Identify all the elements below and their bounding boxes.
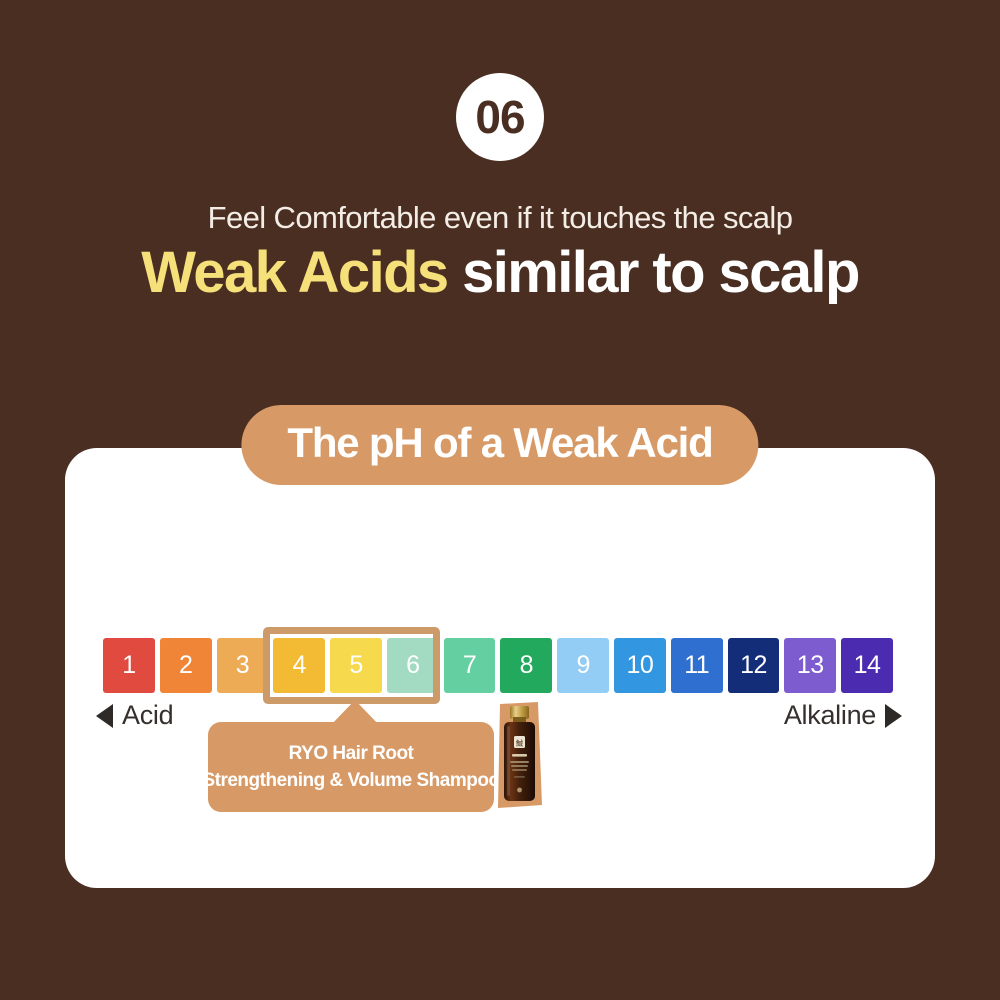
subtitle-text: Feel Comfortable even if it touches the … <box>0 200 1000 236</box>
ph-block-9: 9 <box>557 638 609 693</box>
callout-line-1: RYO Hair Root <box>289 743 414 765</box>
ph-block-1: 1 <box>103 638 155 693</box>
acid-axis-label: Acid <box>96 700 173 731</box>
acid-label-text: Acid <box>122 700 173 731</box>
product-bottle-image: 鯎 <box>490 700 548 812</box>
ph-block-3: 3 <box>217 638 269 693</box>
page-title: Weak Acids similar to scalp <box>0 239 1000 306</box>
section-number-badge: 06 <box>456 73 544 161</box>
ph-block-10: 10 <box>614 638 666 693</box>
ph-block-4: 4 <box>273 638 325 693</box>
ph-block-12: 12 <box>728 638 780 693</box>
ph-block-11: 11 <box>671 638 723 693</box>
ph-block-13: 13 <box>784 638 836 693</box>
alkaline-label-text: Alkaline <box>784 700 876 731</box>
card-banner-label: The pH of a Weak Acid <box>241 405 758 485</box>
ph-block-6: 6 <box>387 638 439 693</box>
ph-block-7: 7 <box>444 638 496 693</box>
headline-rest: similar to scalp <box>448 240 859 305</box>
arrow-left-icon <box>96 704 113 728</box>
callout-line-2: Strengthening & Volume Shampoo <box>202 770 499 792</box>
alkaline-axis-label: Alkaline <box>784 700 902 731</box>
arrow-right-icon <box>885 704 902 728</box>
svg-text:鯎: 鯎 <box>516 740 523 748</box>
ph-block-14: 14 <box>841 638 893 693</box>
headline-accent: Weak Acids <box>141 240 447 305</box>
ph-block-5: 5 <box>330 638 382 693</box>
ph-block-8: 8 <box>500 638 552 693</box>
ph-scale: 1234567891011121314 <box>103 638 893 693</box>
product-callout: RYO Hair Root Strengthening & Volume Sha… <box>208 722 494 812</box>
ph-block-2: 2 <box>160 638 212 693</box>
section-badge-container: 06 <box>0 73 1000 161</box>
